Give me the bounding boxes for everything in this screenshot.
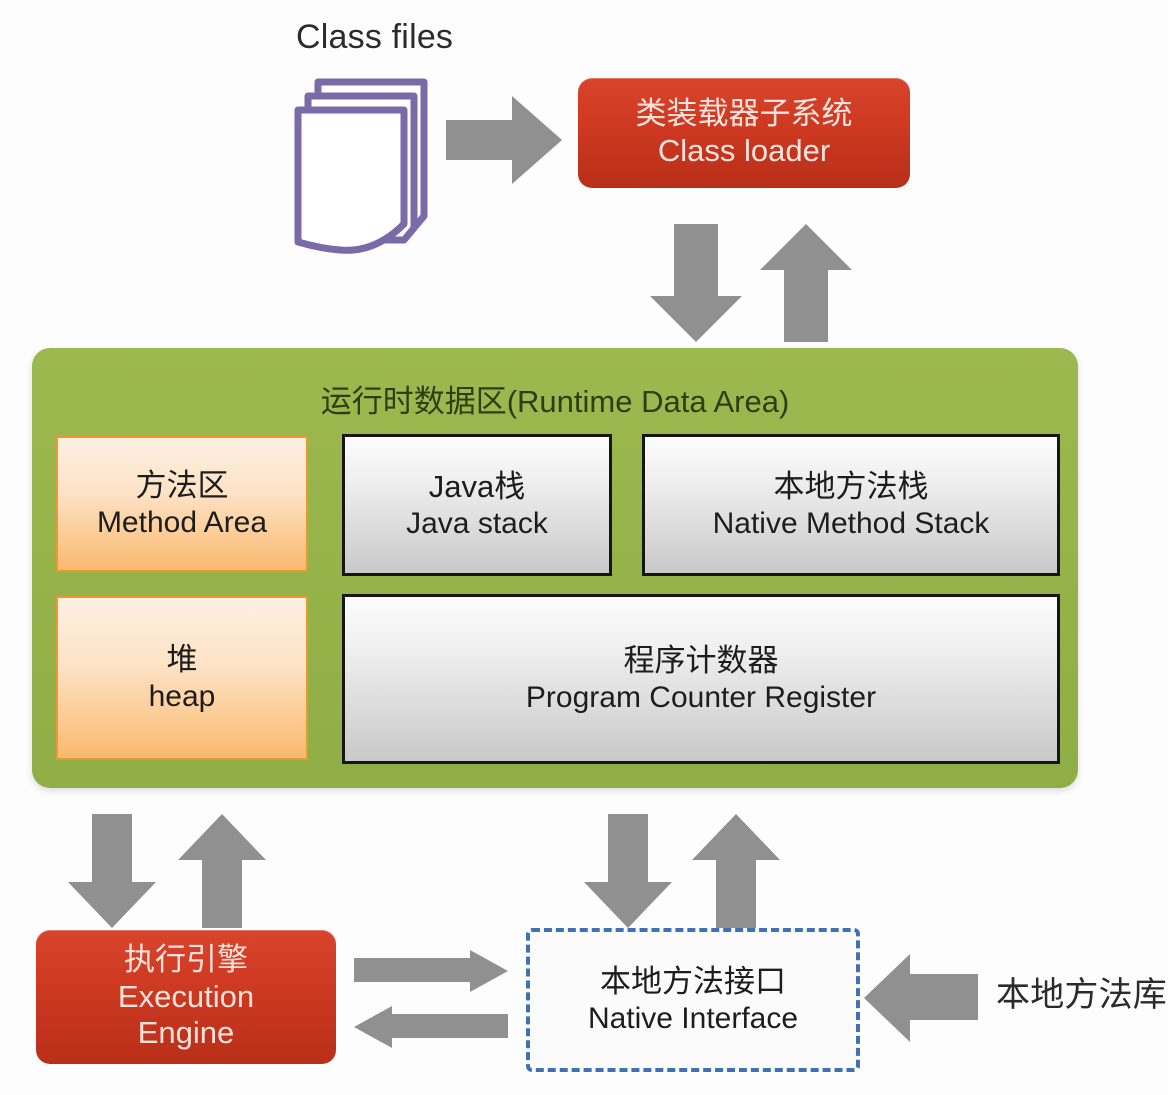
stacked-documents-icon — [288, 66, 448, 271]
native-interface-en-label: Native Interface — [588, 1001, 798, 1037]
java-stack-en-label: Java stack — [406, 506, 548, 542]
program-counter-register-box[interactable]: 程序计数器 Program Counter Register — [342, 594, 1060, 764]
arrow-runtime-to-execution-engine-down-icon — [66, 812, 158, 930]
execution-engine-en-label-2: Engine — [138, 1015, 235, 1052]
program-counter-cn-label: 程序计数器 — [624, 642, 779, 679]
heap-cn-label: 堆 — [167, 641, 198, 678]
java-stack-box[interactable]: Java栈 Java stack — [342, 434, 612, 576]
java-stack-cn-label: Java栈 — [429, 468, 525, 505]
runtime-data-area-title: 运行时数据区(Runtime Data Area) — [32, 376, 1078, 421]
runtime-data-area-panel: 运行时数据区(Runtime Data Area) 方法区 Method Are… — [32, 348, 1078, 788]
arrow-native-interface-to-execution-engine-icon — [352, 1004, 510, 1050]
program-counter-en-label: Program Counter Register — [526, 680, 876, 716]
arrow-runtime-to-native-interface-down-icon — [582, 812, 674, 930]
execution-engine-en-label-1: Execution — [118, 979, 254, 1016]
method-area-cn-label: 方法区 — [136, 467, 229, 504]
execution-engine-cn-label: 执行引擎 — [124, 942, 248, 979]
class-loader-box[interactable]: 类装载器子系统 Class loader — [578, 78, 910, 188]
arrow-native-interface-to-runtime-up-icon — [690, 812, 782, 930]
arrow-execution-engine-to-runtime-up-icon — [176, 812, 268, 930]
arrow-class-loader-to-runtime-down-icon — [648, 222, 744, 344]
native-interface-cn-label: 本地方法接口 — [600, 963, 786, 1000]
arrow-runtime-to-class-loader-up-icon — [758, 222, 854, 344]
class-loader-en-label: Class loader — [658, 133, 830, 170]
native-method-stack-en-label: Native Method Stack — [713, 506, 990, 542]
class-files-label: Class files — [296, 18, 453, 57]
method-area-en-label: Method Area — [97, 505, 267, 541]
native-library-label: 本地方法库 — [996, 976, 1167, 1015]
method-area-box[interactable]: 方法区 Method Area — [56, 436, 308, 572]
heap-box[interactable]: 堆 heap — [56, 596, 308, 760]
heap-en-label: heap — [149, 679, 216, 715]
arrow-execution-engine-to-native-interface-icon — [352, 948, 510, 994]
arrow-class-files-to-class-loader-icon — [444, 92, 564, 188]
execution-engine-box[interactable]: 执行引擎 Execution Engine — [36, 930, 336, 1064]
native-method-stack-cn-label: 本地方法栈 — [774, 468, 929, 505]
class-loader-cn-label: 类装载器子系统 — [636, 96, 853, 133]
arrow-native-library-to-native-interface-icon — [862, 952, 980, 1044]
jvm-architecture-diagram: Class files 类装载器子系统 Class loader — [0, 0, 1168, 1095]
native-interface-box[interactable]: 本地方法接口 Native Interface — [526, 928, 860, 1072]
native-method-stack-box[interactable]: 本地方法栈 Native Method Stack — [642, 434, 1060, 576]
